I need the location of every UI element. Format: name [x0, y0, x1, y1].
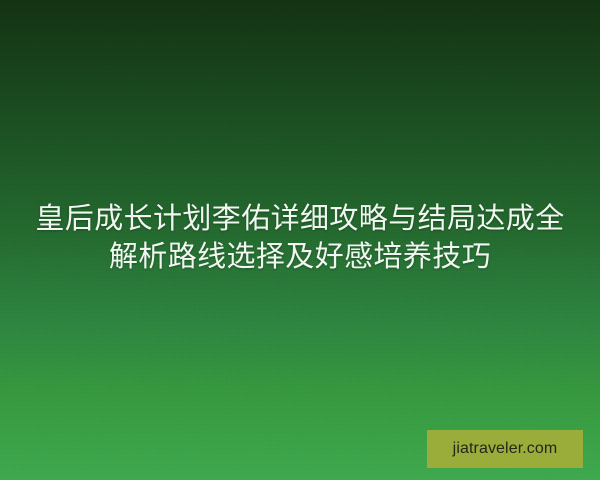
- cover-image-canvas: 皇后成长计划李佑详细攻略与结局达成全 解析路线选择及好感培养技巧 jiatrav…: [0, 0, 600, 480]
- page-title: 皇后成长计划李佑详细攻略与结局达成全 解析路线选择及好感培养技巧: [0, 200, 600, 276]
- page-title-line-1: 皇后成长计划李佑详细攻略与结局达成全: [26, 200, 574, 238]
- watermark-label: jiatraveler.com: [453, 441, 558, 457]
- watermark-badge: jiatraveler.com: [427, 430, 583, 468]
- page-title-line-2: 解析路线选择及好感培养技巧: [26, 238, 574, 276]
